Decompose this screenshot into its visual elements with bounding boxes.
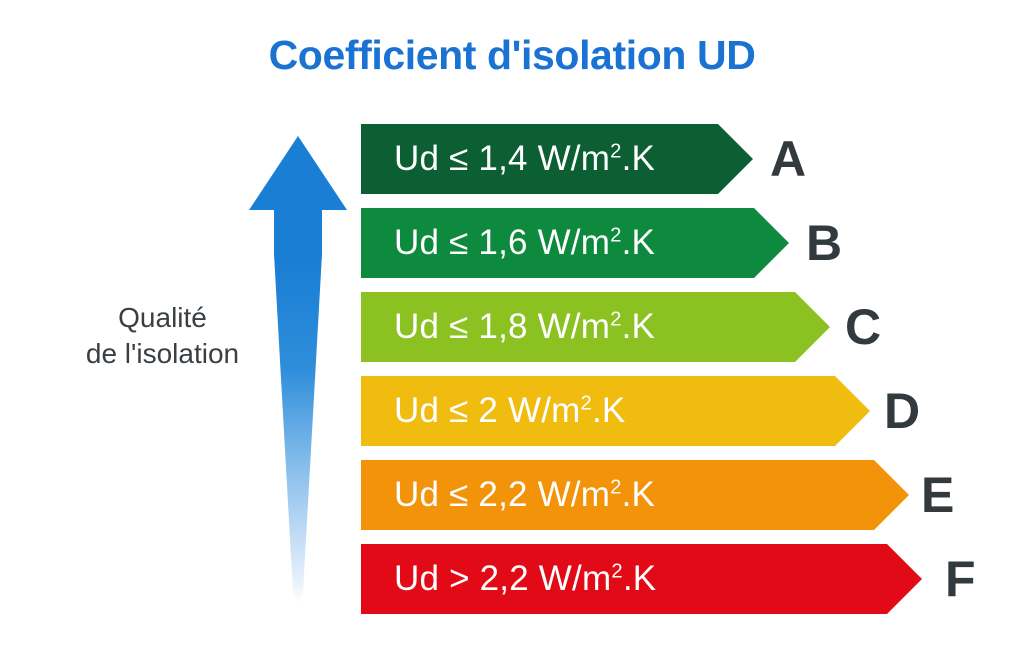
energy-rating-infographic: Coefficient d'isolation UD Qualité de l'… — [0, 0, 1024, 658]
rating-label-c: Ud ≤ 1,8 W/m2.K — [361, 307, 655, 347]
rating-bar-d: Ud ≤ 2 W/m2.K — [361, 376, 870, 446]
rating-row-e: Ud ≤ 2,2 W/m2.K E — [361, 460, 909, 530]
rating-row-c: Ud ≤ 1,8 W/m2.K C — [361, 292, 830, 362]
rating-grade-c: C — [845, 292, 881, 362]
rating-bar-e: Ud ≤ 2,2 W/m2.K — [361, 460, 909, 530]
rating-label-a: Ud ≤ 1,4 W/m2.K — [361, 139, 655, 179]
rating-scale: Ud ≤ 1,4 W/m2.K A Ud ≤ 1,6 W/m2.K B Ud ≤… — [0, 0, 1024, 658]
rating-label-f: Ud > 2,2 W/m2.K — [361, 559, 656, 599]
rating-label-e: Ud ≤ 2,2 W/m2.K — [361, 475, 655, 515]
rating-bar-a: Ud ≤ 1,4 W/m2.K — [361, 124, 753, 194]
rating-row-f: Ud > 2,2 W/m2.K F — [361, 544, 922, 614]
rating-row-a: Ud ≤ 1,4 W/m2.K A — [361, 124, 753, 194]
rating-bar-f: Ud > 2,2 W/m2.K — [361, 544, 922, 614]
rating-row-d: Ud ≤ 2 W/m2.K D — [361, 376, 870, 446]
rating-label-b: Ud ≤ 1,6 W/m2.K — [361, 223, 655, 263]
rating-grade-a: A — [770, 124, 806, 194]
rating-label-d: Ud ≤ 2 W/m2.K — [361, 391, 625, 431]
rating-bar-c: Ud ≤ 1,8 W/m2.K — [361, 292, 830, 362]
rating-row-b: Ud ≤ 1,6 W/m2.K B — [361, 208, 789, 278]
rating-grade-f: F — [945, 544, 976, 614]
rating-grade-d: D — [884, 376, 920, 446]
rating-grade-e: E — [921, 460, 954, 530]
rating-bar-b: Ud ≤ 1,6 W/m2.K — [361, 208, 789, 278]
rating-grade-b: B — [806, 208, 842, 278]
